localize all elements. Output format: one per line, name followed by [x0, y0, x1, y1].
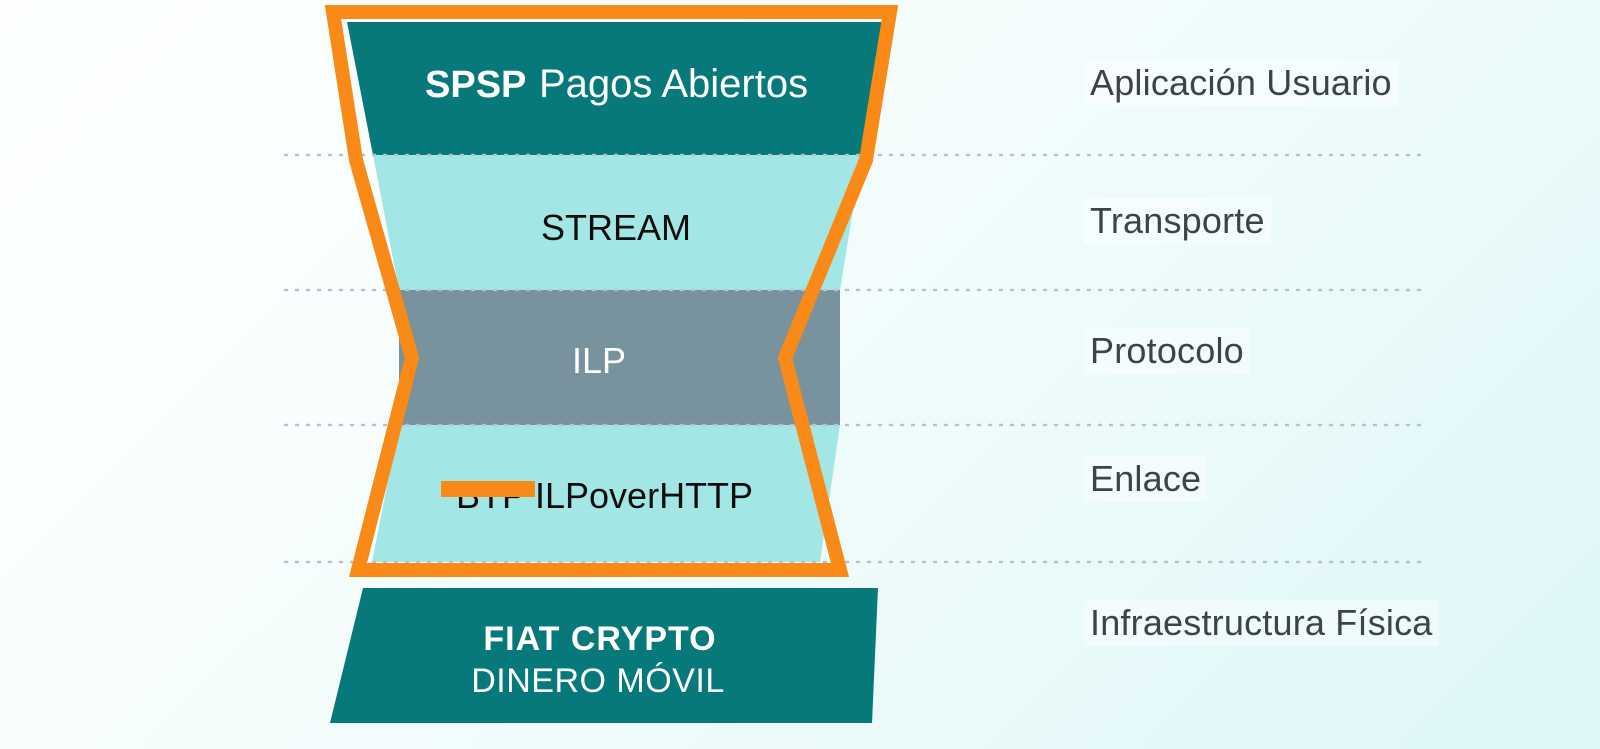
- layer-label-infrastructure-secondary: DINERO MÓVIL: [471, 662, 724, 700]
- layer-label-infrastructure-primary: FIAT CRYPTO: [483, 620, 716, 658]
- layer-label-transport-primary: STREAM: [541, 207, 691, 248]
- layer-label-link-secondary: ILPoverHTTP: [535, 475, 753, 516]
- side-label-application: Aplicación Usuario: [1084, 60, 1398, 106]
- layer-label-protocol-primary: ILP: [572, 340, 626, 381]
- side-label-protocol: Protocolo: [1084, 328, 1250, 374]
- side-label-transport: Transporte: [1084, 198, 1271, 244]
- side-label-infrastructure: Infraestructura Física: [1084, 600, 1439, 646]
- strikethrough-bar-icon: [441, 481, 535, 497]
- layer-label-application-secondary: Pagos Abiertos: [539, 62, 808, 106]
- side-label-link: Enlace: [1084, 456, 1207, 502]
- diagram-canvas: SPSP Pagos Abiertos STREAM ILP BTP ILPov…: [0, 0, 1600, 749]
- layer-label-application-primary: SPSP: [425, 64, 526, 106]
